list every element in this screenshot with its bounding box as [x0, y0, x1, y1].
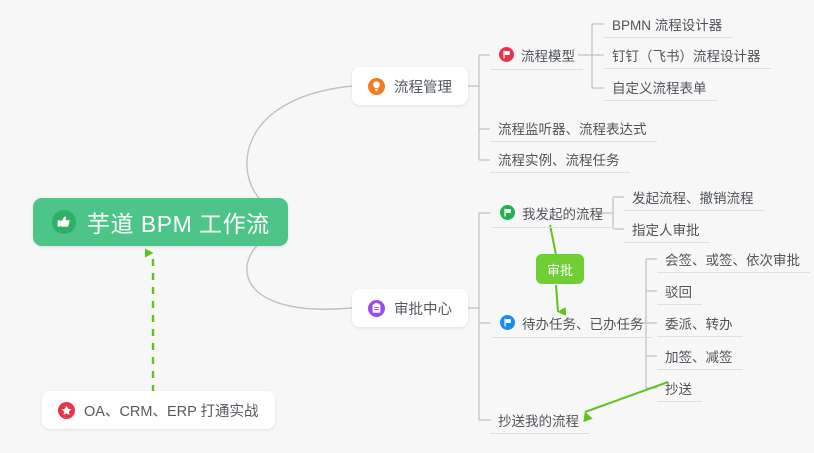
node-my-started-process[interactable]: 我发起的流程 [492, 198, 611, 228]
node-process-management[interactable]: 流程管理 [352, 67, 468, 105]
root-node-label: 芋道 BPM 工作流 [87, 205, 270, 239]
node-cc-my-process-label: 抄送我的流程 [498, 410, 579, 430]
node-process-model-label: 流程模型 [521, 45, 575, 65]
node-process-management-label: 流程管理 [394, 76, 452, 97]
leaf-bpmn-designer[interactable]: BPMN 流程设计器 [604, 10, 732, 38]
node-todo-done-tasks[interactable]: 待办任务、已办任务 [492, 308, 652, 338]
leaf-cc[interactable]: 抄送 [657, 374, 702, 402]
node-process-listener[interactable]: 流程监听器、流程表达式 [490, 114, 657, 142]
leaf-delegate-transfer-label: 委派、转办 [665, 313, 733, 333]
leaf-start-cancel-process[interactable]: 发起流程、撤销流程 [624, 183, 764, 211]
arrow-cc-to-cc-process [585, 382, 668, 412]
annotation-approval-tag-label: 审批 [547, 260, 573, 279]
node-approval-center[interactable]: 审批中心 [352, 289, 468, 327]
node-process-listener-label: 流程监听器、流程表达式 [498, 118, 647, 138]
root-node[interactable]: 芋道 BPM 工作流 [33, 198, 288, 246]
annotation-approval-tag: 审批 [536, 254, 584, 284]
node-process-instance-label: 流程实例、流程任务 [498, 149, 620, 169]
leaf-countersign-label: 会签、或签、依次审批 [665, 249, 800, 269]
leaf-dingtalk-designer[interactable]: 钉钉（飞书）流程设计器 [604, 41, 771, 69]
leaf-add-remove-sign[interactable]: 加签、减签 [657, 342, 743, 370]
leaf-custom-form-label: 自定义流程表单 [612, 77, 707, 97]
leaf-add-remove-sign-label: 加签、减签 [665, 346, 733, 366]
leaf-reject[interactable]: 驳回 [657, 277, 702, 305]
annotation-integration-note-label: OA、CRM、ERP 打通实战 [84, 400, 259, 421]
flag-icon-blue [500, 315, 515, 330]
leaf-custom-form[interactable]: 自定义流程表单 [604, 73, 717, 101]
mindmap-canvas: 芋道 BPM 工作流 流程管理 流程模型 BPMN 流程设计器 钉钉（飞书）流程 [0, 0, 814, 453]
clipboard-icon [368, 300, 385, 317]
leaf-assignee-approval-label: 指定人审批 [632, 219, 700, 239]
leaf-start-cancel-process-label: 发起流程、撤销流程 [632, 187, 754, 207]
star-icon [58, 402, 75, 419]
leaf-bpmn-designer-label: BPMN 流程设计器 [612, 14, 722, 34]
leaf-countersign[interactable]: 会签、或签、依次审批 [657, 245, 810, 273]
node-approval-center-label: 审批中心 [394, 298, 452, 319]
leaf-reject-label: 驳回 [665, 281, 692, 301]
leaf-cc-label: 抄送 [665, 378, 692, 398]
node-todo-done-tasks-label: 待办任务、已办任务 [522, 313, 644, 333]
lightbulb-icon [368, 78, 385, 95]
flag-icon-green [500, 205, 515, 220]
connector-root-to-process-management [247, 86, 352, 212]
leaf-dingtalk-designer-label: 钉钉（飞书）流程设计器 [612, 45, 761, 65]
node-process-instance[interactable]: 流程实例、流程任务 [490, 145, 630, 173]
thumbs-up-icon [51, 209, 77, 235]
node-my-started-process-label: 我发起的流程 [522, 203, 603, 223]
node-process-model[interactable]: 流程模型 [491, 40, 583, 70]
arrow-approval-flow [550, 225, 556, 255]
annotation-integration-note[interactable]: OA、CRM、ERP 打通实战 [42, 391, 275, 429]
leaf-assignee-approval[interactable]: 指定人审批 [624, 215, 710, 243]
leaf-delegate-transfer[interactable]: 委派、转办 [657, 309, 743, 337]
flag-icon-red [499, 47, 514, 62]
node-cc-my-process[interactable]: 抄送我的流程 [490, 406, 589, 434]
